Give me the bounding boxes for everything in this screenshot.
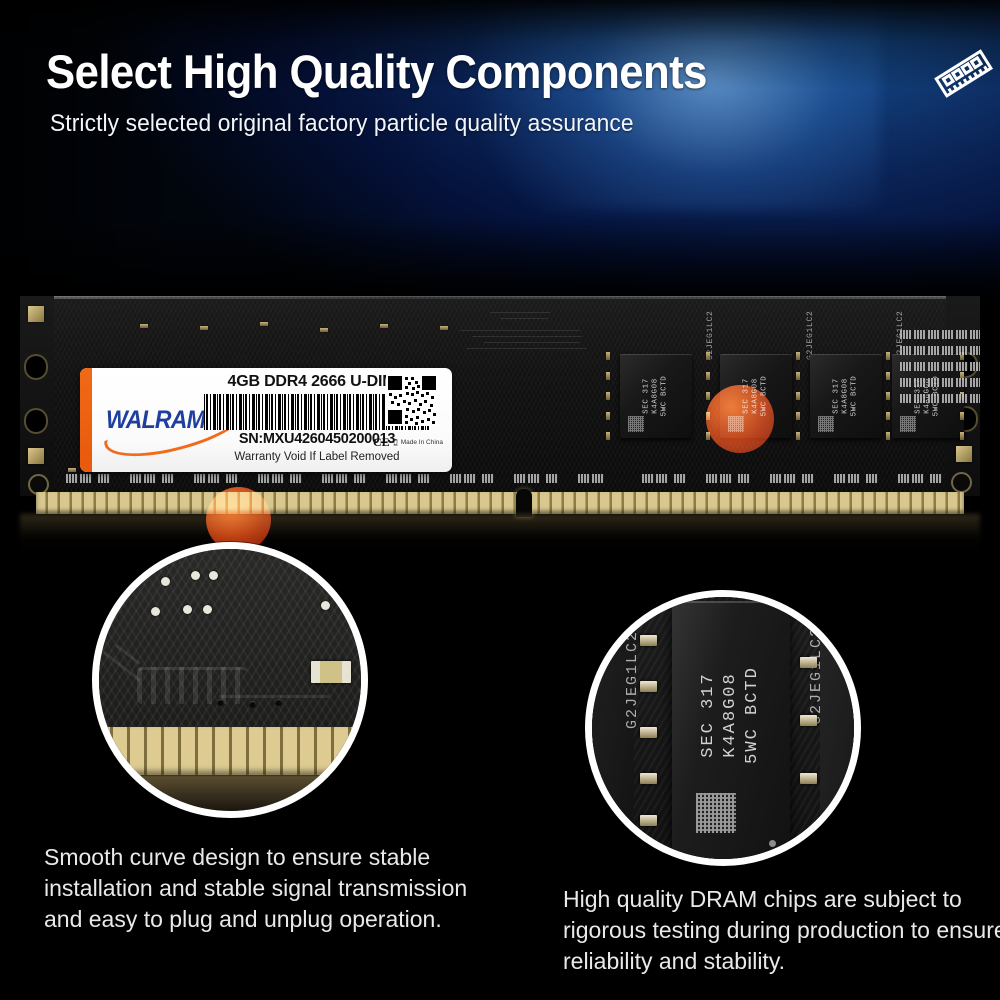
smd-component xyxy=(592,474,604,483)
caption-right: High quality DRAM chips are subject to r… xyxy=(563,884,1000,977)
smd-component xyxy=(98,474,110,483)
neighbor-chip xyxy=(820,597,854,859)
smd-component xyxy=(606,392,610,400)
ddr4-key-notch xyxy=(516,489,532,517)
smd-component xyxy=(942,330,954,339)
smd-component xyxy=(942,394,954,403)
datamatrix-icon xyxy=(818,416,834,432)
smd-component xyxy=(796,392,800,400)
dram-chip-side-code-left: G2JEG1LC2 xyxy=(624,630,641,729)
smd-component xyxy=(706,474,718,483)
dram-chip: SEC 317K4A8G085WC BCTD xyxy=(810,354,882,438)
smd-component xyxy=(942,362,954,371)
module-screw-hole xyxy=(951,472,972,493)
smd-component xyxy=(796,432,800,440)
magnifier-right: G2JEG1LC2 SEC 317 K4A8G08 5WC BCTD G2JEG… xyxy=(585,590,861,866)
smd-component xyxy=(418,474,430,483)
smd-component xyxy=(956,330,968,339)
smd-component xyxy=(290,474,302,483)
gold-pins-closeup xyxy=(99,727,361,775)
smd-component xyxy=(130,474,142,483)
smd-component xyxy=(208,474,220,483)
gold-pad xyxy=(28,306,44,322)
smd-component xyxy=(886,412,890,420)
smd-component xyxy=(914,346,926,355)
smd-component xyxy=(140,324,148,328)
smd-component xyxy=(956,346,968,355)
highlight-marker-right xyxy=(706,385,774,453)
smd-component xyxy=(942,346,954,355)
serpentine-trace xyxy=(137,667,247,704)
smd-component xyxy=(578,474,590,483)
smd-component xyxy=(606,412,610,420)
smd-component xyxy=(928,330,940,339)
smd-component xyxy=(272,474,284,483)
smd-component xyxy=(914,394,926,403)
smd-component xyxy=(886,352,890,360)
smd-component xyxy=(200,326,208,330)
datamatrix-icon xyxy=(696,793,736,833)
smd-component xyxy=(706,352,710,360)
smd-component xyxy=(970,362,980,371)
weee-bin-icon xyxy=(393,436,398,448)
smd-component xyxy=(706,372,710,380)
smd-component xyxy=(784,474,796,483)
dram-chip-side-code-right: G2JEG1LC2 xyxy=(808,626,825,725)
smd-component xyxy=(956,362,968,371)
smd-component xyxy=(914,330,926,339)
smd-component xyxy=(720,474,732,483)
smd-component xyxy=(514,474,526,483)
smd-component xyxy=(796,372,800,380)
smd-component xyxy=(796,352,800,360)
smd-component xyxy=(606,432,610,440)
smd-component xyxy=(656,474,668,483)
smd-component xyxy=(706,392,710,400)
dram-chip-marking: SEC 317 K4A8G08 5WC BCTD xyxy=(698,666,764,764)
brand-name: WALRAM xyxy=(106,406,205,435)
smd-component xyxy=(928,346,940,355)
smd-component xyxy=(928,394,940,403)
module-reflection xyxy=(20,514,980,554)
certification-marks: CE Made In China xyxy=(373,431,443,453)
smd-component xyxy=(770,474,782,483)
smd-component xyxy=(930,474,942,483)
datamatrix-icon xyxy=(628,416,644,432)
surface-reflection xyxy=(99,775,361,811)
smd-component xyxy=(886,432,890,440)
smd-component xyxy=(80,474,92,483)
magnifier-left xyxy=(92,542,368,818)
smd-component xyxy=(960,432,964,440)
dram-chip-marking: SEC 317K4A8G085WC BCTD xyxy=(833,376,860,417)
smd-component xyxy=(900,378,912,387)
pin-1-dot xyxy=(769,840,776,847)
smd-component xyxy=(440,326,448,330)
caption-left: Smooth curve design to ensure stable ins… xyxy=(44,842,494,935)
smd-component xyxy=(914,362,926,371)
smd-component xyxy=(66,474,78,483)
smd-component xyxy=(928,362,940,371)
dram-chip-marking: SEC 317K4A8G085WC BCTD xyxy=(643,376,670,417)
module-notch-cut xyxy=(24,354,48,380)
page-subtitle: Strictly selected original factory parti… xyxy=(50,110,634,138)
smd-component xyxy=(260,322,268,326)
pcb-top-edge xyxy=(20,296,980,299)
smd-component xyxy=(970,378,980,387)
gold-pad xyxy=(28,448,44,464)
smd-component xyxy=(956,378,968,387)
smd-component xyxy=(226,474,238,483)
hero-banner: Select High Quality Components Strictly … xyxy=(0,0,1000,300)
smd-component xyxy=(900,346,912,355)
datamatrix-icon xyxy=(900,416,916,432)
dram-chip-side-code: G2JEG1LC2 xyxy=(806,310,815,360)
smd-component xyxy=(258,474,270,483)
smd-component xyxy=(162,474,174,483)
page-title: Select High Quality Components xyxy=(46,44,707,99)
label-accent-bar xyxy=(80,368,92,472)
module-left-ear xyxy=(20,296,54,496)
smd-component xyxy=(464,474,476,483)
gold-pad xyxy=(956,446,972,462)
smd-component xyxy=(970,394,980,403)
product-marketing-image: Select High Quality Components Strictly … xyxy=(0,0,1000,1000)
smd-component xyxy=(354,474,366,483)
smd-component xyxy=(834,474,846,483)
smd-component xyxy=(450,474,462,483)
dram-chip: SEC 317K4A8G085WC BCTD xyxy=(620,354,692,438)
smd-component xyxy=(886,392,890,400)
origin-text: Made In China xyxy=(401,439,443,446)
smd-component xyxy=(194,474,206,483)
smd-component xyxy=(674,474,686,483)
smd-component xyxy=(322,474,334,483)
smd-component xyxy=(400,474,412,483)
smd-component xyxy=(956,394,968,403)
ce-mark: CE xyxy=(373,435,390,450)
module-notch-cut xyxy=(24,408,48,434)
smd-component xyxy=(68,468,76,472)
smd-component xyxy=(960,412,964,420)
smd-component xyxy=(606,352,610,360)
smd-component xyxy=(866,474,878,483)
smd-component xyxy=(886,372,890,380)
smd-component xyxy=(900,362,912,371)
smd-component xyxy=(914,378,926,387)
qr-code xyxy=(386,374,438,426)
smd-component xyxy=(144,474,156,483)
smd-component xyxy=(606,372,610,380)
smd-component xyxy=(912,474,924,483)
smd-component xyxy=(848,474,860,483)
smd-capacitor xyxy=(311,661,351,683)
ram-module: SEC 317K4A8G085WC BCTD G2JEG1LC2 SEC 317… xyxy=(20,296,980,508)
smd-component xyxy=(738,474,750,483)
smd-component xyxy=(942,378,954,387)
smd-component xyxy=(528,474,540,483)
smd-component xyxy=(900,394,912,403)
smd-component xyxy=(802,474,814,483)
smd-component xyxy=(380,324,388,328)
smd-component xyxy=(546,474,558,483)
smd-component xyxy=(386,474,398,483)
smd-component xyxy=(642,474,654,483)
gold-edge-connector xyxy=(36,492,964,514)
smd-component xyxy=(900,330,912,339)
product-label: WALRAM 4GB DDR4 2666 U-DIMM SN:MXU426045… xyxy=(80,368,452,472)
pcb-board: SEC 317K4A8G085WC BCTD G2JEG1LC2 SEC 317… xyxy=(20,296,980,496)
smd-component xyxy=(320,328,328,332)
smd-component xyxy=(970,330,980,339)
smd-component xyxy=(482,474,494,483)
smd-component xyxy=(336,474,348,483)
smd-component xyxy=(796,412,800,420)
smd-component xyxy=(970,346,980,355)
smd-component xyxy=(898,474,910,483)
smd-component xyxy=(928,378,940,387)
dram-chip-closeup: SEC 317 K4A8G08 5WC BCTD xyxy=(672,601,790,859)
